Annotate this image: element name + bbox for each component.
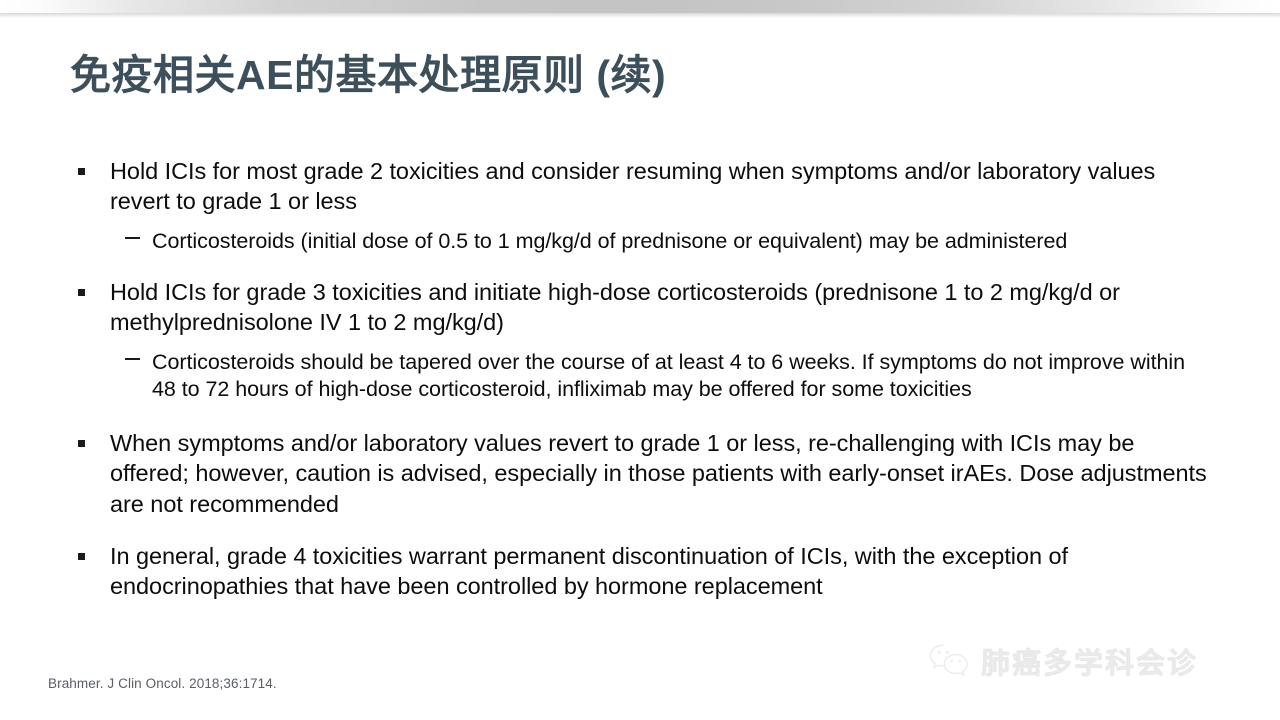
watermark-text: 肺癌多学科会诊 xyxy=(981,640,1198,682)
bullet-text: When symptoms and/or laboratory values r… xyxy=(110,430,1207,517)
bullet-item-level2: Corticosteroids should be tapered over t… xyxy=(70,349,1210,404)
square-bullet-icon xyxy=(78,168,85,175)
bullet-text: Hold ICIs for grade 3 toxicities and ini… xyxy=(110,279,1120,335)
bullet-item-level1: Hold ICIs for grade 3 toxicities and ini… xyxy=(70,277,1210,338)
bullet-text: Corticosteroids should be tapered over t… xyxy=(152,350,1185,401)
slide-body: Hold ICIs for most grade 2 toxicities an… xyxy=(70,156,1210,617)
bullet-text: Hold ICIs for most grade 2 toxicities an… xyxy=(110,158,1155,214)
watermark: 肺癌多学科会诊 xyxy=(928,640,1198,682)
slide-canvas: 免疫相关AE的基本处理原则 (续) Hold ICIs for most gra… xyxy=(0,0,1280,720)
square-bullet-icon xyxy=(78,553,85,560)
dash-bullet-icon xyxy=(125,237,140,239)
square-bullet-icon xyxy=(78,440,85,447)
slide-title: 免疫相关AE的基本处理原则 (续) xyxy=(70,52,1210,99)
wechat-icon xyxy=(928,641,972,681)
bullet-item-level1: Hold ICIs for most grade 2 toxicities an… xyxy=(70,156,1210,217)
bullet-text: Corticosteroids (initial dose of 0.5 to … xyxy=(152,229,1067,253)
square-bullet-icon xyxy=(78,289,85,296)
bullet-item-level1: In general, grade 4 toxicities warrant p… xyxy=(70,541,1210,602)
dash-bullet-icon xyxy=(125,358,140,360)
bullet-item-level2: Corticosteroids (initial dose of 0.5 to … xyxy=(70,228,1210,255)
bullet-item-level1: When symptoms and/or laboratory values r… xyxy=(70,428,1210,519)
top-band-shadow xyxy=(0,13,1280,18)
top-gradient-band xyxy=(0,0,1280,13)
citation-text: Brahmer. J Clin Oncol. 2018;36:1714. xyxy=(48,676,277,691)
bullet-text: In general, grade 4 toxicities warrant p… xyxy=(110,543,1068,599)
